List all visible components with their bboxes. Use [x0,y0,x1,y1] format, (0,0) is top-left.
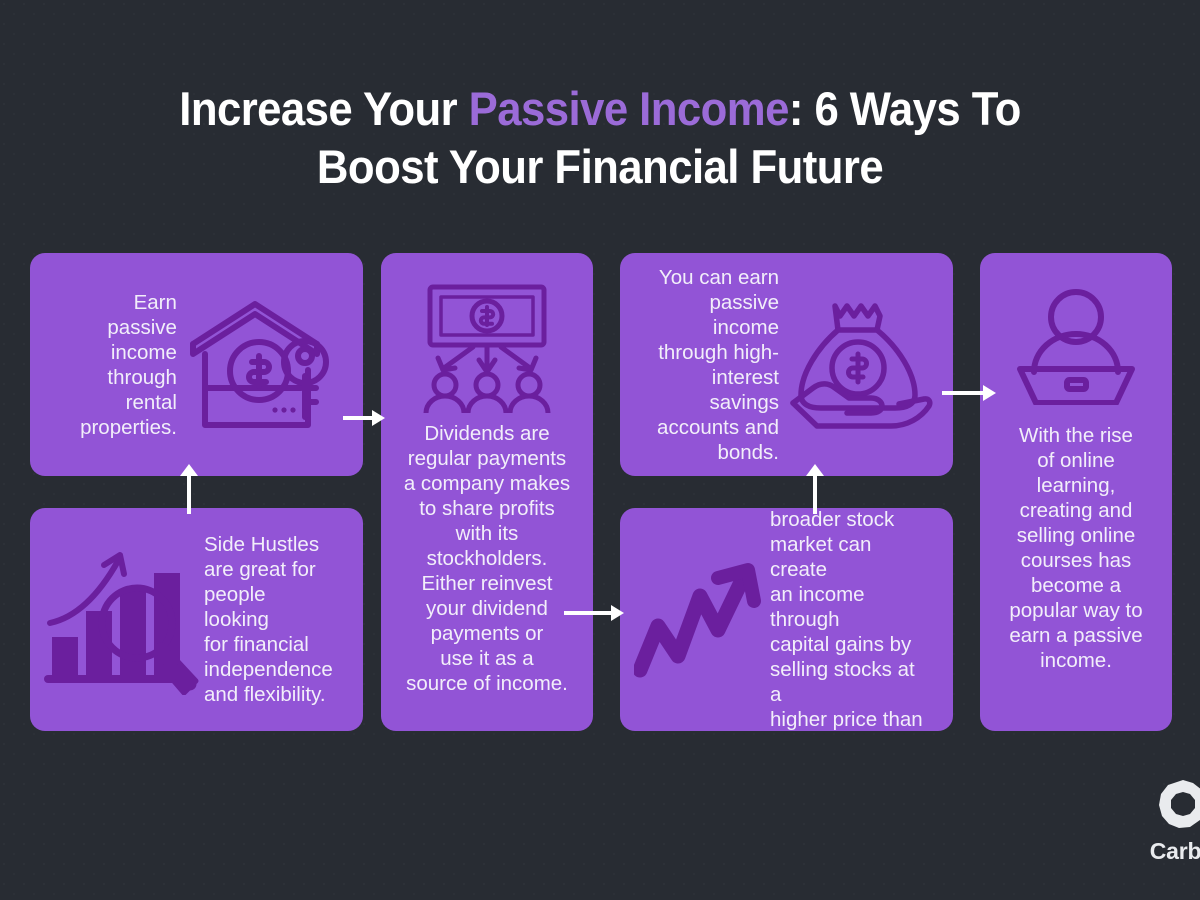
brand-logo: Carbo [1125,778,1200,865]
card-side-hustles-content: Side Hustles are great for people lookin… [30,508,363,731]
growth-bar-chart-with-magnifier-icon [44,545,202,695]
card-side-hustles-text: Side Hustles are great for people lookin… [204,532,335,707]
card-savings-content: You can earn passive income through high… [620,253,953,476]
arrow-savings-to-courses [942,383,998,403]
card-courses-content: With the rise of online learning, creati… [980,253,1172,731]
banknote-distributed-to-people-icon [418,283,556,413]
card-savings-and-bonds[interactable]: You can earn passive income through high… [620,253,953,476]
arrow-stocks-to-savings [804,462,826,514]
infographic-board: Earn passive income through rental prope… [0,0,1200,900]
money-bag-in-hand-icon [787,300,935,430]
card-savings-text: You can earn passive income through high… [652,265,779,465]
card-stock-market[interactable]: Investing in the broader stock market ca… [620,508,953,731]
card-online-courses[interactable]: With the rise of online learning, creati… [980,253,1172,731]
house-with-coin-and-key-icon [183,292,333,437]
card-dividends-text: Dividends are regular payments a company… [404,421,570,696]
card-rental-content: Earn passive income through rental prope… [30,253,363,476]
arrow-dividends-to-stocks [564,603,626,623]
arrow-rental-to-dividends [343,408,387,428]
faceted-ring-logo-icon [1125,778,1200,835]
person-at-laptop-icon [1012,287,1140,405]
card-dividends-content: Dividends are regular payments a company… [381,253,593,731]
card-rental-text: Earn passive income through rental prope… [80,290,177,440]
card-rental-properties[interactable]: Earn passive income through rental prope… [30,253,363,476]
upward-zigzag-arrow-icon [634,560,766,680]
card-stocks-content: Investing in the broader stock market ca… [620,508,953,731]
card-dividends[interactable]: Dividends are regular payments a company… [381,253,593,731]
card-courses-text: With the rise of online learning, creati… [1009,423,1142,673]
card-stocks-text: Investing in the broader stock market ca… [770,508,929,731]
arrow-sidehustle-to-rental [178,462,200,514]
card-side-hustles[interactable]: Side Hustles are great for people lookin… [30,508,363,731]
brand-wordmark: Carbo [1125,838,1200,865]
